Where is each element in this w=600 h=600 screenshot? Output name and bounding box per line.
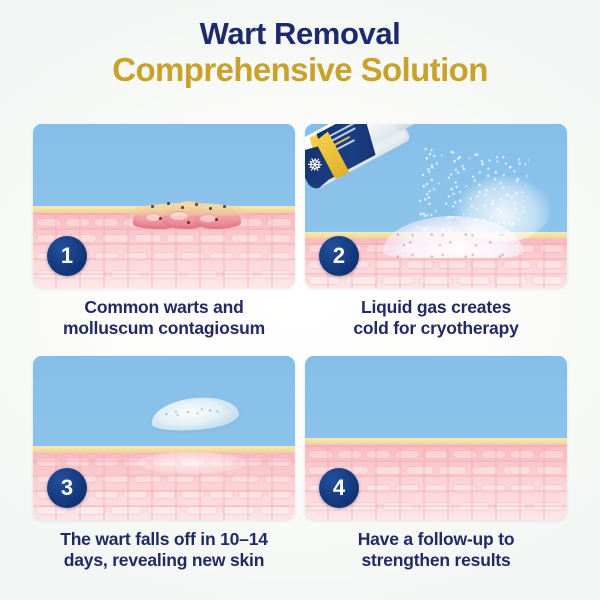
step-card-2: ❅ 2 Liquid gas creates cold for cryother… bbox=[305, 124, 567, 340]
infographic-poster: Wart Removal Comprehensive Solution bbox=[0, 0, 600, 600]
step-3-illustration: 3 bbox=[33, 356, 295, 520]
step-4-caption: Have a follow-up to strengthen results bbox=[305, 529, 567, 572]
step-3-caption: The wart falls off in 10–14 days, reveal… bbox=[33, 529, 295, 572]
wart-lesion bbox=[129, 199, 247, 235]
step-4-illustration: 4 bbox=[305, 356, 567, 520]
step-badge-4: 4 bbox=[319, 468, 359, 508]
step-2-caption: Liquid gas creates cold for cryotherapy bbox=[305, 297, 567, 340]
step-badge-3: 3 bbox=[47, 468, 87, 508]
step-4-caption-line-2: strengthen results bbox=[305, 550, 567, 571]
step-2-caption-line-1: Liquid gas creates bbox=[305, 297, 567, 318]
stratum-corneum-band bbox=[33, 446, 295, 453]
step-2-caption-line-2: cold for cryotherapy bbox=[305, 318, 567, 339]
step-card-1: 1 Common warts and molluscum contagiosum bbox=[33, 124, 295, 340]
step-card-4: 4 Have a follow-up to strengthen results bbox=[305, 356, 567, 572]
poster-header: Wart Removal Comprehensive Solution bbox=[0, 18, 600, 86]
stratum-corneum-band bbox=[305, 438, 567, 445]
spray-mist bbox=[413, 147, 529, 244]
step-1-caption: Common warts and molluscum contagiosum bbox=[33, 297, 295, 340]
step-3-caption-line-2: days, revealing new skin bbox=[33, 550, 295, 571]
epidermis-cell-row bbox=[305, 447, 567, 461]
step-3-caption-line-1: The wart falls off in 10–14 bbox=[33, 529, 295, 550]
title-line-2: Comprehensive Solution bbox=[0, 53, 600, 86]
steps-grid: 1 Common warts and molluscum contagiosum bbox=[0, 118, 600, 590]
step-badge-2: 2 bbox=[319, 236, 359, 276]
step-1-caption-line-1: Common warts and bbox=[33, 297, 295, 318]
title-line-1: Wart Removal bbox=[0, 18, 600, 49]
step-1-caption-line-2: molluscum contagiosum bbox=[33, 318, 295, 339]
step-card-3: 3 The wart falls off in 10–14 days, reve… bbox=[33, 356, 295, 572]
step-1-illustration: 1 bbox=[33, 124, 295, 288]
step-badge-1: 1 bbox=[47, 236, 87, 276]
step-2-illustration: ❅ 2 bbox=[305, 124, 567, 288]
new-skin-patch bbox=[137, 452, 245, 474]
step-4-caption-line-1: Have a follow-up to bbox=[305, 529, 567, 550]
